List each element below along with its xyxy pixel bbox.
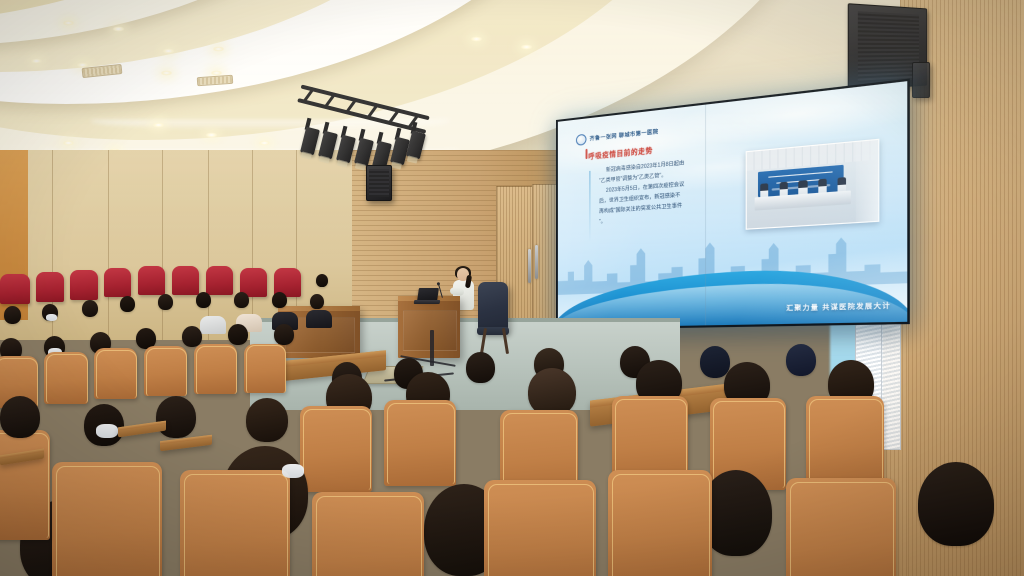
audience-seat-rear[interactable] [104, 268, 131, 297]
face-mask [96, 424, 118, 438]
audience-head [274, 324, 294, 345]
audience-head [234, 292, 249, 308]
audience-seat-left-edge[interactable] [0, 430, 50, 540]
audience-head [272, 292, 287, 308]
slide-footer-text: 汇聚力量 共谋医院发展大计 [786, 300, 891, 313]
audience-seat-front[interactable] [300, 406, 372, 492]
recessed-downlight [62, 140, 75, 146]
photo-side-wall [856, 140, 878, 222]
speaker-podium [398, 296, 460, 358]
hospital-emblem-icon [576, 134, 587, 146]
audience-head [158, 294, 173, 310]
audience-torso [306, 310, 332, 328]
slide-title-marker [586, 149, 587, 159]
audience-seat[interactable] [144, 346, 187, 396]
presentation-slide: 齐鲁一张网 聊城市第一医院 呼吸疫情目前的走势 新冠病毒感染自2023年1月8日… [558, 81, 907, 328]
slide-body-rule [590, 170, 591, 241]
audience-head [316, 274, 328, 287]
audience-head [700, 346, 730, 378]
presenter-laptop[interactable] [417, 288, 439, 301]
audience-seat-foreground[interactable] [786, 478, 896, 576]
door-handle-icon[interactable] [528, 249, 531, 283]
audience-seat-foreground[interactable] [180, 470, 290, 576]
press-conference-photo [745, 139, 879, 230]
audience-seat[interactable] [94, 348, 137, 399]
audience-seat[interactable] [244, 344, 286, 393]
audience-seat-foreground[interactable] [312, 492, 424, 576]
recessed-downlight [520, 44, 533, 50]
recessed-downlight [160, 70, 173, 76]
audience-head [466, 352, 495, 383]
face-mask [282, 464, 304, 478]
left-wall-speaker [366, 165, 392, 201]
audience-seat-front[interactable] [806, 396, 884, 490]
door-handle-icon[interactable] [535, 245, 538, 279]
audience-seat-foreground[interactable] [608, 470, 712, 576]
audience-head [228, 324, 248, 345]
audience-head [196, 292, 211, 308]
audience-seat-rear[interactable] [0, 274, 30, 304]
audience-head [120, 296, 135, 312]
audience-seat-front[interactable] [384, 400, 456, 486]
audience-seat[interactable] [194, 344, 237, 394]
seat-tablet-arm [118, 421, 166, 438]
audience-head [528, 368, 576, 416]
recessed-downlight [152, 122, 165, 128]
projection-screen[interactable]: 齐鲁一张网 聊城市第一医院 呼吸疫情目前的走势 新冠病毒感染自2023年1月8日… [556, 79, 910, 330]
presenter-arm [450, 287, 465, 296]
recessed-downlight [30, 58, 43, 64]
audience-seat-rear[interactable] [36, 272, 64, 302]
audience-seat-foreground[interactable] [484, 480, 596, 576]
recessed-downlight [212, 46, 225, 52]
audience-seat-rear[interactable] [206, 266, 233, 295]
audience-head [310, 294, 324, 309]
recessed-downlight [62, 20, 75, 26]
audience-head [0, 396, 40, 438]
executive-chair[interactable] [478, 282, 508, 330]
audience-head [4, 306, 21, 324]
audience-seat[interactable] [44, 352, 88, 404]
audience-seat-rear[interactable] [172, 266, 199, 295]
audience-head [246, 398, 288, 442]
recessed-downlight [112, 26, 125, 32]
recessed-downlight [205, 132, 218, 138]
recessed-downlight [162, 48, 175, 54]
face-mask [46, 314, 57, 321]
recessed-downlight [258, 140, 271, 146]
right-speaker-bracket [912, 62, 930, 98]
audience-seat-rear[interactable] [138, 266, 165, 295]
recessed-downlight [470, 36, 483, 42]
slide-body-text: 新冠病毒感染自2023年1月8日起由 “乙类甲管”调整为“乙类乙管”。 2023… [599, 156, 731, 229]
audience-head [786, 344, 816, 376]
audience-head [156, 396, 196, 438]
audience-seat-rear[interactable] [70, 270, 98, 300]
audience-head [918, 462, 994, 546]
audience-head [82, 300, 98, 317]
audience-torso [200, 316, 226, 334]
audience-seat-foreground[interactable] [52, 462, 162, 576]
auditorium-photo: 齐鲁一张网 聊城市第一医院 呼吸疫情目前的走势 新冠病毒感染自2023年1月8日… [0, 0, 1024, 576]
podium-cable [430, 330, 434, 366]
